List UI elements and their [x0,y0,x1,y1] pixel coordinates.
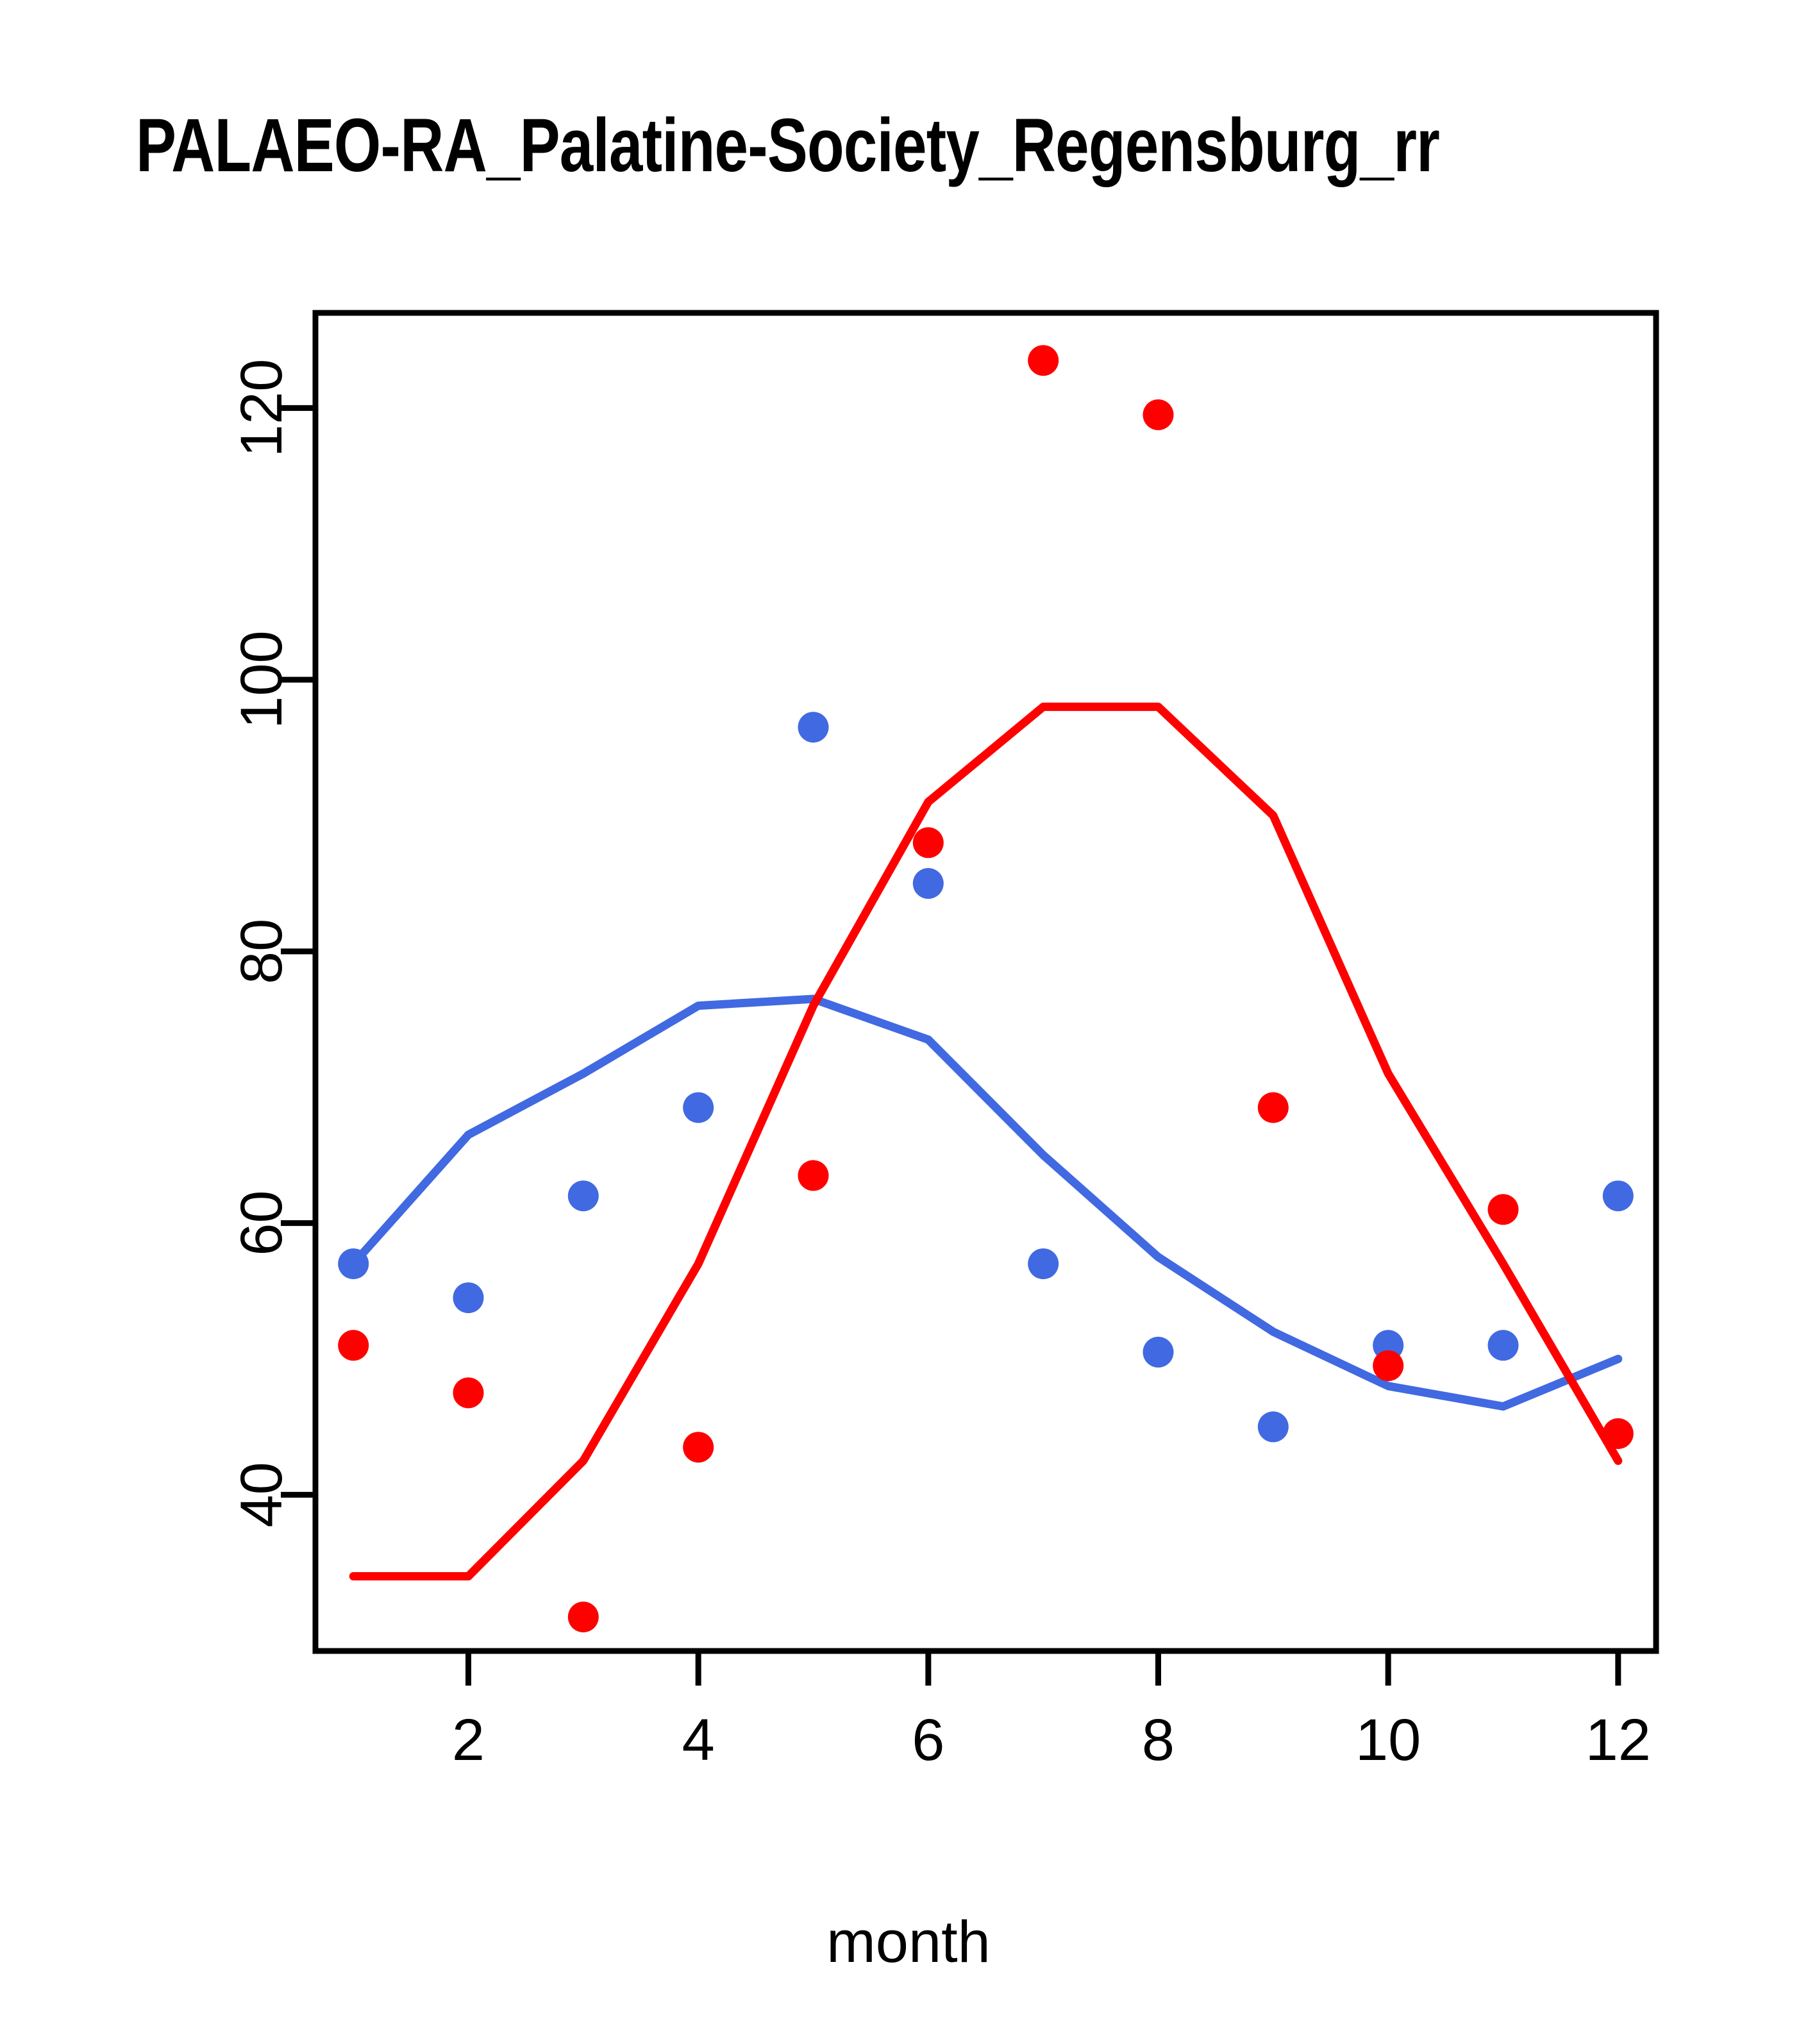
x-axis-title: month [826,1909,991,1975]
data-point [1488,1194,1519,1225]
data-point [1603,1418,1634,1449]
x-tick-label: 4 [682,1707,715,1773]
data-point [1258,1411,1289,1442]
data-point [338,1330,369,1361]
data-point [1143,399,1174,430]
data-point [1028,345,1059,376]
data-point [453,1282,484,1313]
x-tick-label: 2 [452,1707,485,1773]
data-point [683,1432,714,1462]
data-point [338,1248,369,1279]
series-points [338,345,1634,1632]
data-point [453,1377,484,1408]
data-point [798,1160,829,1191]
data-point [1488,1330,1519,1361]
y-tick-label: 100 [229,630,294,729]
data-point [1373,1350,1403,1381]
data-point [798,712,829,742]
y-tick-label: 60 [229,1190,294,1255]
y-axis-tick-labels: 406080100120 [229,359,294,1528]
y-tick-label: 40 [229,1462,294,1527]
x-tick-label: 8 [1142,1707,1175,1773]
x-tick-label: 6 [912,1707,944,1773]
chart-figure: PALAEO-RA_Palatine-Society_Regensburg_rr… [0,0,1817,2044]
plot-box-border [315,313,1656,1651]
data-point [1143,1337,1174,1368]
data-point [1258,1093,1289,1123]
data-point [913,868,944,899]
data-point [913,827,944,858]
data-point [683,1093,714,1123]
data-point [1028,1248,1059,1279]
y-tick-label: 120 [229,359,294,458]
data-point [568,1180,599,1211]
series-line-blue-line [353,999,1618,1407]
series-line-red-line [353,707,1618,1576]
y-tick-label: 80 [229,919,294,984]
x-tick-label: 12 [1586,1707,1651,1773]
x-axis-ticks [469,1651,1618,1686]
series-lines [353,707,1618,1576]
plot-canvas: 406080100120 24681012 month [0,0,1817,2044]
data-point [568,1602,599,1632]
x-tick-label: 10 [1355,1707,1421,1773]
data-point [1603,1180,1634,1211]
x-axis-tick-labels: 24681012 [452,1707,1651,1773]
